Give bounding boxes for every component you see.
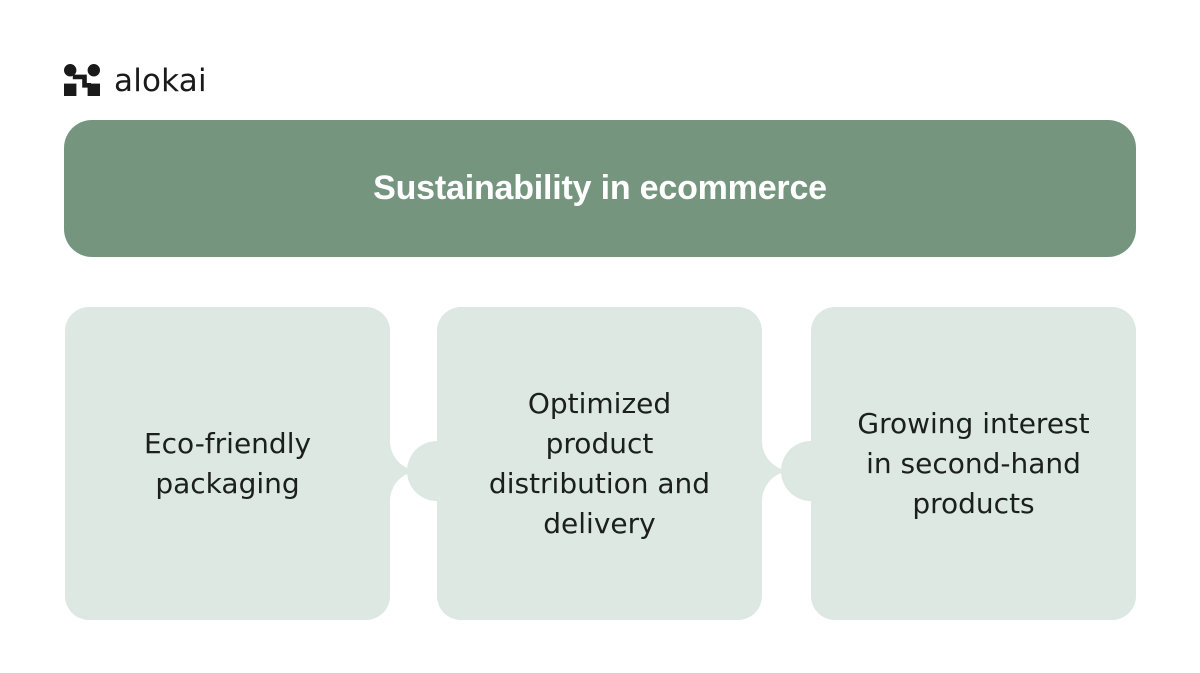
banner-sustainability: Sustainability in ecommerce: [64, 120, 1136, 257]
card-2[interactable]: Growing interestin second-handproducts: [811, 307, 1136, 620]
brand-name: alokai: [114, 66, 207, 97]
card-label-2: Growing interestin second-handproducts: [811, 404, 1136, 524]
card-1[interactable]: Optimizedproductdistribution anddelivery: [437, 307, 762, 620]
infographic-canvas: alokai Sustainability in ecommerce Eco-f…: [0, 0, 1200, 673]
card-0[interactable]: Eco-friendlypackaging: [65, 307, 390, 620]
brand-logo: alokai: [64, 58, 207, 102]
alokai-logo-mark-icon: [64, 64, 100, 96]
card-label-1: Optimizedproductdistribution anddelivery: [437, 384, 762, 544]
page-title: Sustainability in ecommerce: [373, 169, 827, 208]
card-label-0: Eco-friendlypackaging: [65, 424, 390, 504]
